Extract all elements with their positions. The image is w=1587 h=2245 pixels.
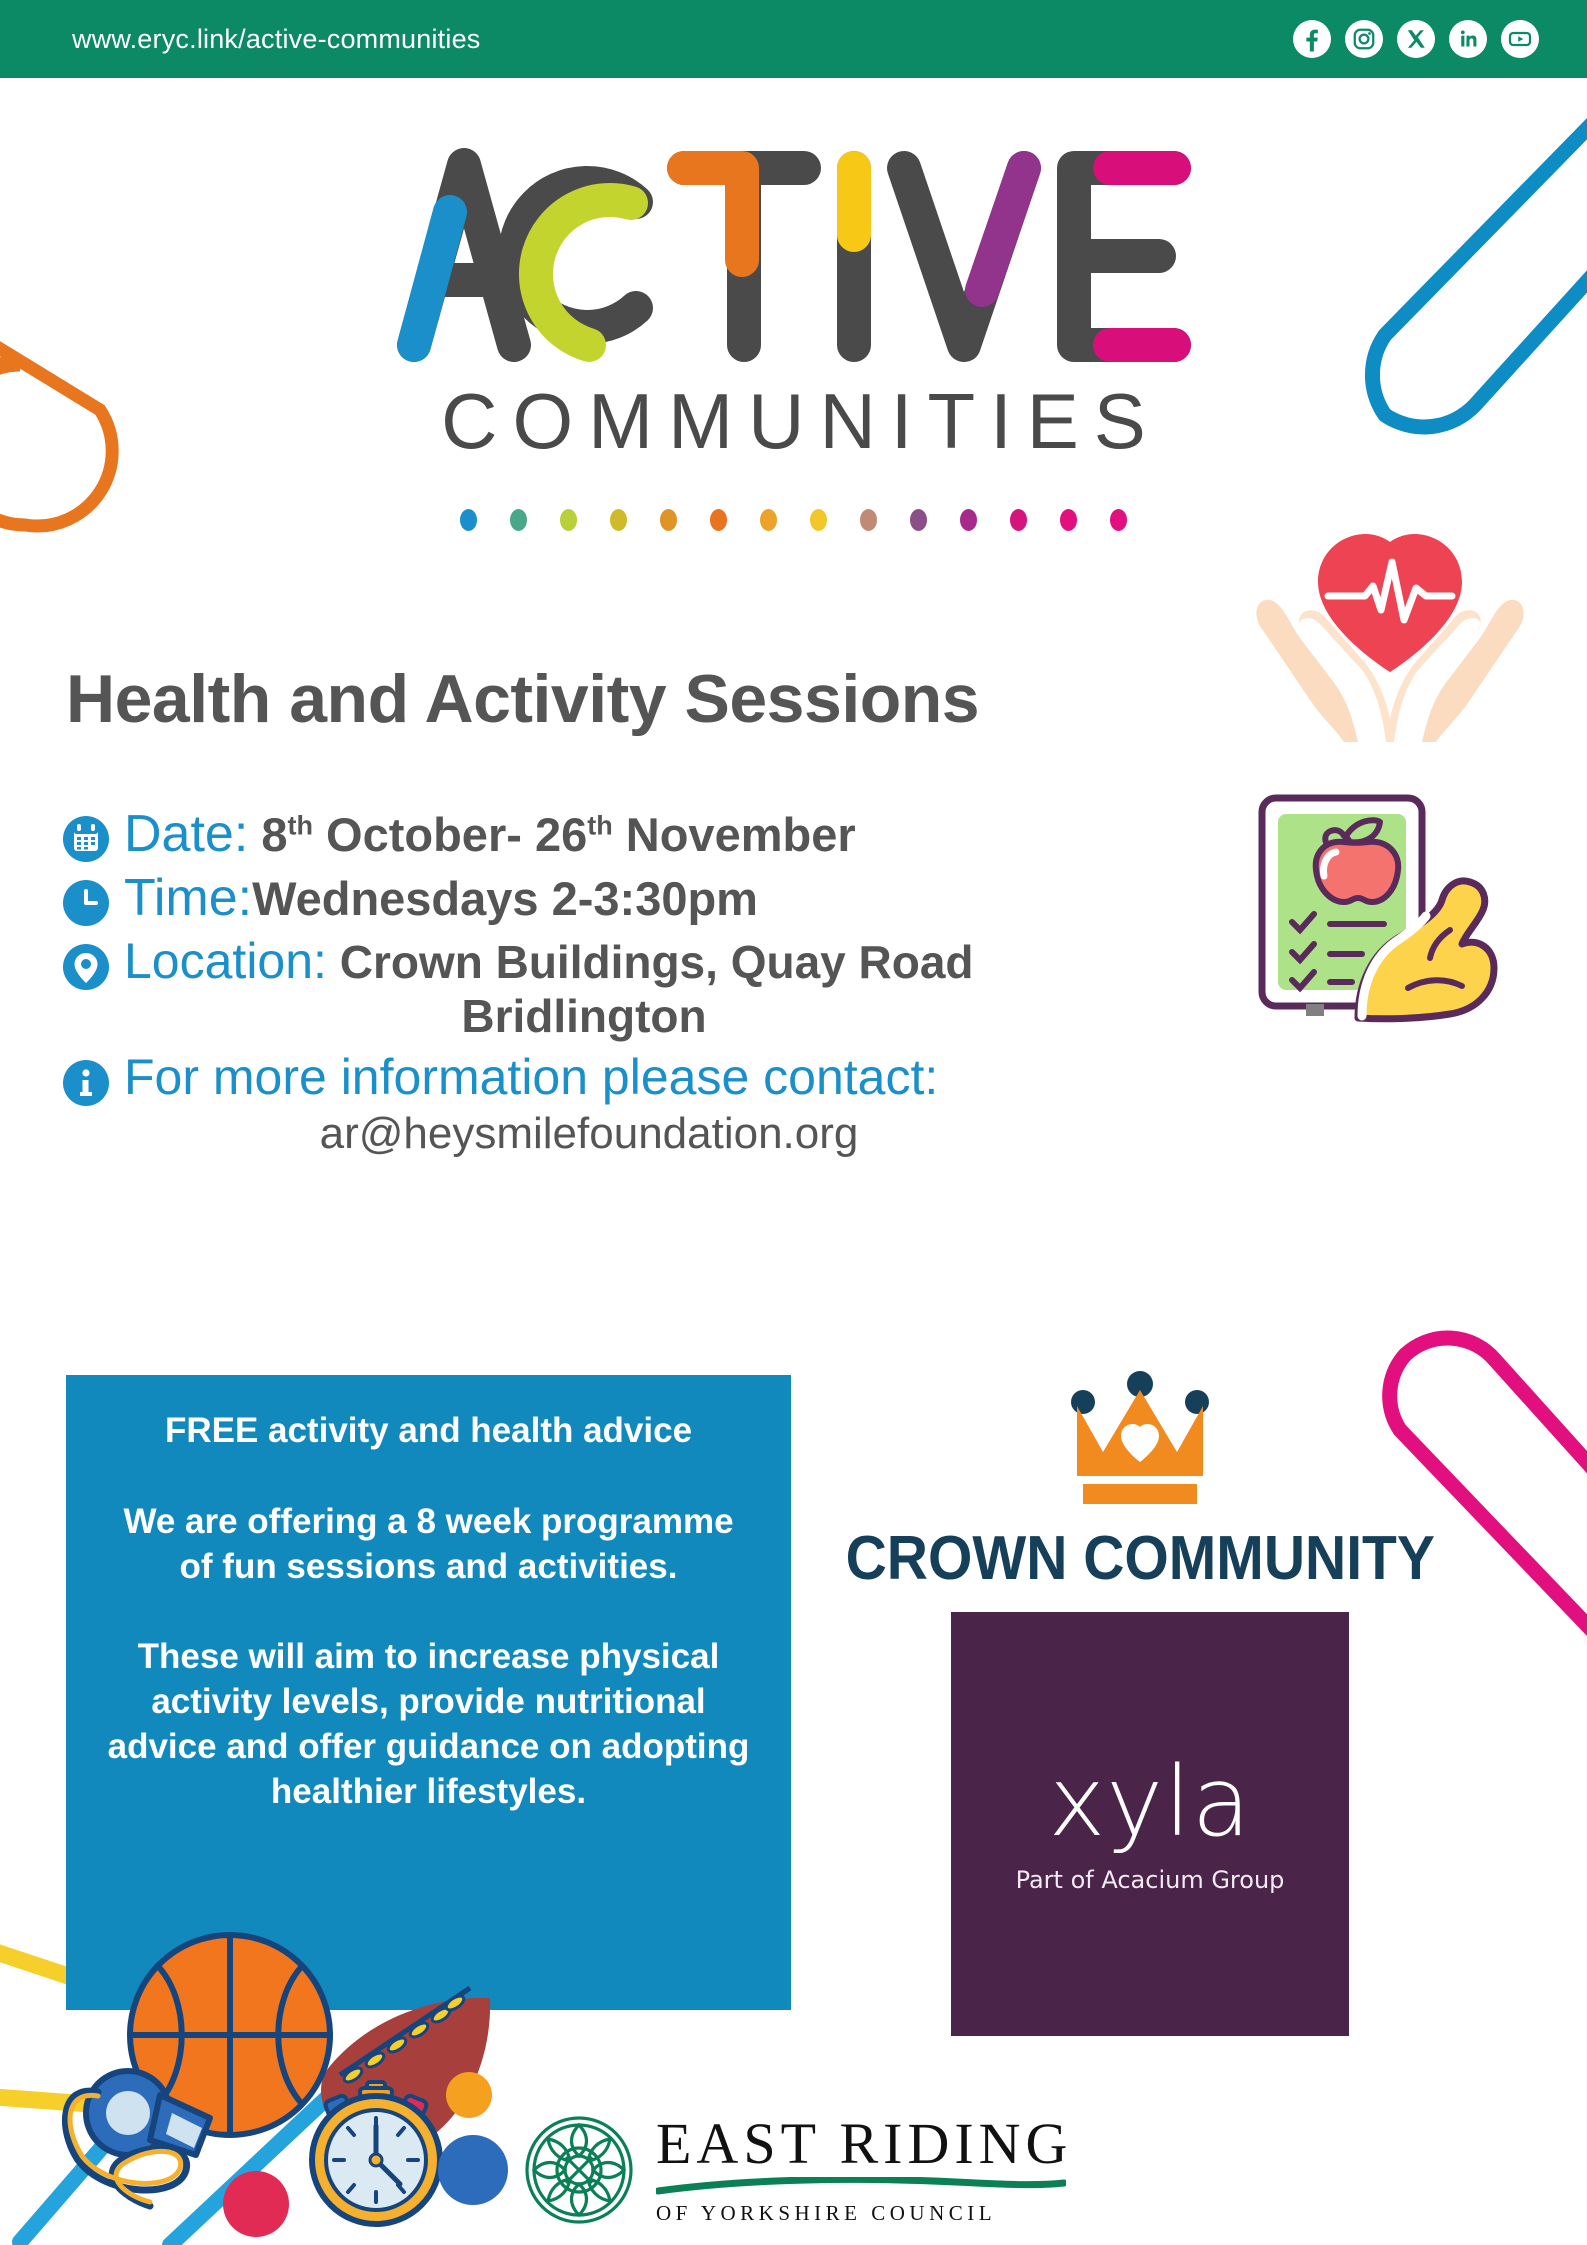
- info-icon: [62, 1059, 110, 1107]
- detail-row-time: Time:Wednesdays 2-3:30pm: [62, 869, 1222, 927]
- xyla-subtitle: Part of Acacium Group: [1016, 1866, 1285, 1894]
- health-clipboard-muscle-illustration: [1240, 788, 1500, 1023]
- session-details: Date: 8th October- 26th November Time:We…: [62, 805, 1222, 1164]
- social-links: [1293, 20, 1539, 58]
- location-value-line1: Crown Buildings, Quay Road: [327, 936, 974, 988]
- sports-equipment-illustration: [0, 1870, 520, 2245]
- instagram-icon[interactable]: [1345, 20, 1383, 58]
- logo-communities-word: COMMUNITIES: [0, 376, 1587, 467]
- logo-dot: [610, 509, 627, 531]
- contact-label: For more information please contact:: [124, 1049, 938, 1105]
- facebook-icon[interactable]: [1293, 20, 1331, 58]
- logo-dot: [860, 509, 877, 531]
- yorkshire-rose-icon: [520, 2111, 638, 2229]
- crown-community-logo: CROWN COMMUNITY: [820, 1370, 1460, 1594]
- council-subtitle: OF YORKSHIRE COUNCIL: [656, 2201, 1072, 2226]
- logo-dot: [660, 509, 677, 531]
- council-swoosh: [656, 2177, 1066, 2195]
- header-bar: www.eryc.link/active-communities: [0, 0, 1587, 78]
- logo-dot: [810, 509, 827, 531]
- heart-in-hands-illustration: [1240, 520, 1540, 745]
- clock-icon: [62, 879, 110, 927]
- date-value: 8th October- 26th November: [248, 808, 855, 861]
- logo-dot: [460, 509, 477, 531]
- logo-dot: [1060, 509, 1077, 531]
- logo-dot: [760, 509, 777, 531]
- detail-row-contact: For more information please contact: ar@…: [62, 1049, 1222, 1158]
- info-paragraph-3: These will aim to increase physical acti…: [106, 1635, 751, 1814]
- x-twitter-icon[interactable]: [1397, 20, 1435, 58]
- crown-community-title: CROWN COMMUNITY: [846, 1523, 1435, 1594]
- date-label: Date:: [124, 805, 248, 863]
- location-value-line2: Bridlington: [124, 991, 1214, 1043]
- logo-dot: [560, 509, 577, 531]
- page-title: Health and Activity Sessions: [66, 660, 979, 738]
- xyla-wordmark: xyla: [1048, 1754, 1251, 1850]
- logo-dot: [1110, 509, 1127, 531]
- poster-root: www.eryc.link/active-communities: [0, 0, 1587, 2245]
- time-value: Wednesdays 2-3:30pm: [252, 872, 758, 925]
- east-riding-council-logo: EAST RIDING OF YORKSHIRE COUNCIL: [520, 2095, 1080, 2245]
- youtube-icon[interactable]: [1501, 20, 1539, 58]
- council-name: EAST RIDING: [656, 2115, 1072, 2173]
- location-label: Location:: [124, 933, 327, 989]
- logo-dot: [510, 509, 527, 531]
- contact-email[interactable]: ar@heysmilefoundation.org: [124, 1109, 1214, 1158]
- crown-icon: [1055, 1370, 1225, 1510]
- active-communities-logo: COMMUNITIES: [0, 130, 1587, 531]
- detail-row-date: Date: 8th October- 26th November: [62, 805, 1222, 863]
- logo-dot: [710, 509, 727, 531]
- website-url[interactable]: www.eryc.link/active-communities: [72, 24, 481, 55]
- xyla-logo: xyla Part of Acacium Group: [951, 1612, 1349, 2036]
- logo-dot: [960, 509, 977, 531]
- logo-dot: [1010, 509, 1027, 531]
- info-paragraph-1: FREE activity and health advice: [106, 1409, 751, 1454]
- map-pin-icon: [62, 943, 110, 991]
- logo-dot: [910, 509, 927, 531]
- time-label: Time:: [124, 869, 252, 927]
- info-paragraph-2: We are offering a 8 week programme of fu…: [106, 1500, 751, 1590]
- logo-active-wordmark: [384, 130, 1204, 370]
- calendar-icon: [62, 815, 110, 863]
- linkedin-icon[interactable]: [1449, 20, 1487, 58]
- detail-row-location: Location: Crown Buildings, Quay Road Bri…: [62, 933, 1222, 1043]
